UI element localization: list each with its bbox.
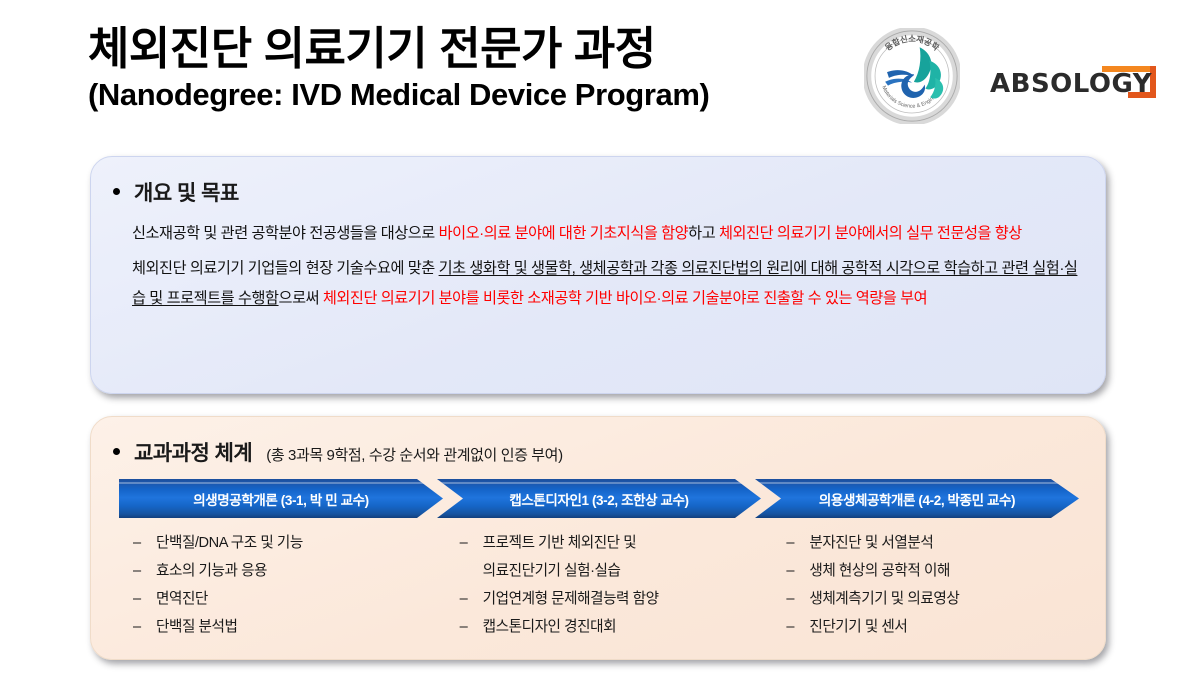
course-chevron-3-label: 의용생체공학개론 (4-2, 박종민 교수) [809, 489, 1025, 509]
page-title-korean: 체외진단 의료기기 전문가 과정 [88, 24, 848, 74]
topic-dash-icon: – [460, 613, 470, 641]
topic-label: 기업연계형 문제해결능력 함양 [483, 585, 659, 613]
course-topics-column-3: –분자진단 및 서열분석–생체 현상의 공학적 이해–생체계측기기 및 의료영상… [772, 529, 1099, 641]
topic-dash-icon: – [786, 613, 796, 641]
topic-label: 프로젝트 기반 체외진단 및 [483, 529, 637, 557]
svg-text:ABSOLOGY: ABSOLOGY [990, 69, 1153, 99]
topic-item-continuation: 의료진단기기 실험·실습 [446, 557, 773, 585]
topic-item: –분자진단 및 서열분석 [772, 529, 1099, 557]
topic-dash-icon: – [786, 585, 796, 613]
overview-panel: 개요 및 목표 신소재공학 및 관련 공학분야 전공생들을 대상으로 바이오·의… [90, 156, 1106, 394]
topic-item: –기업연계형 문제해결능력 함양 [446, 585, 773, 613]
topic-item: –단백질 분석법 [119, 613, 446, 641]
overview-paragraph-2: 체외진단 의료기기 기업들의 현장 기술수요에 맞춘 기초 생화학 및 생물학,… [132, 254, 1084, 314]
overview-heading: 개요 및 목표 [113, 177, 239, 207]
text-run: 체외진단 의료기기 분야에서의 실무 전문성을 향상 [719, 225, 1022, 242]
course-name: 의용생체공학개론 [819, 493, 915, 508]
topic-label: 효소의 기능과 응용 [156, 557, 267, 585]
text-run: 하고 [688, 225, 719, 242]
topic-label: 생체 현상의 공학적 이해 [809, 557, 950, 585]
topic-item: –생체 현상의 공학적 이해 [772, 557, 1099, 585]
topic-label: 의료진단기기 실험·실습 [483, 557, 621, 585]
topic-item: –단백질/DNA 구조 및 기능 [119, 529, 446, 557]
topic-dash-icon: – [460, 529, 470, 557]
topic-dash-icon: – [133, 585, 143, 613]
topic-label: 진단기기 및 센서 [809, 613, 907, 641]
overview-paragraph-1: 신소재공학 및 관련 공학분야 전공생들을 대상으로 바이오·의료 분야에 대한… [132, 219, 1084, 249]
overview-title: 개요 및 목표 [134, 177, 239, 207]
bullet-dot-icon [113, 188, 120, 195]
topic-dash-icon: – [133, 613, 143, 641]
topic-item: –진단기기 및 센서 [772, 613, 1099, 641]
slide-root: 체외진단 의료기기 전문가 과정 (Nanodegree: IVD Medica… [0, 0, 1200, 675]
course-meta: (3-2, 조한상 교수) [589, 493, 689, 508]
course-topics-column-1: –단백질/DNA 구조 및 기능–효소의 기능과 응용–면역진단–단백질 분석법 [119, 529, 446, 641]
topic-item: –효소의 기능과 응용 [119, 557, 446, 585]
topic-label: 단백질/DNA 구조 및 기능 [156, 529, 303, 557]
curriculum-title: 교과과정 체계 [134, 437, 252, 467]
course-chevron-3[interactable]: 의용생체공학개론 (4-2, 박종민 교수) [755, 479, 1079, 518]
course-meta: (3-1, 박 민 교수) [277, 493, 368, 508]
course-chevron-1[interactable]: 의생명공학개론 (3-1, 박 민 교수) [119, 479, 443, 518]
course-flow-band: 의생명공학개론 (3-1, 박 민 교수) 캡스톤디자인1 (3-2, 조한상 … [119, 479, 1079, 518]
text-run: 체외진단 의료기기 기업들의 현장 기술수요에 맞춘 [132, 260, 439, 277]
curriculum-note: (총 3과목 9학점, 수강 순서와 관계없이 인증 부여) [266, 444, 562, 465]
topic-label: 면역진단 [156, 585, 208, 613]
topic-dash-icon: – [133, 557, 143, 585]
text-run: 신소재공학 및 관련 공학분야 전공생들을 대상으로 [132, 225, 439, 242]
overview-body: 신소재공학 및 관련 공학분야 전공생들을 대상으로 바이오·의료 분야에 대한… [132, 219, 1084, 314]
text-run: 체외진단 의료기기 분야를 비롯한 소재공학 기반 바이오·의료 기술분야로 진… [323, 290, 927, 307]
topic-item: –면역진단 [119, 585, 446, 613]
slide-header: 체외진단 의료기기 전문가 과정 (Nanodegree: IVD Medica… [0, 0, 1200, 150]
course-chevron-2[interactable]: 캡스톤디자인1 (3-2, 조한상 교수) [437, 479, 761, 518]
course-name: 의생명공학개론 [193, 493, 277, 508]
topic-dash-icon: – [133, 529, 143, 557]
topic-item: –프로젝트 기반 체외진단 및 [446, 529, 773, 557]
course-chevron-1-label: 의생명공학개론 (3-1, 박 민 교수) [183, 489, 378, 509]
topic-label: 분자진단 및 서열분석 [809, 529, 933, 557]
course-topic-columns: –단백질/DNA 구조 및 기능–효소의 기능과 응용–면역진단–단백질 분석법… [119, 529, 1099, 641]
absology-logo-icon: ABSOLOGY [988, 62, 1158, 102]
text-run: 으로써 [279, 290, 323, 307]
curriculum-heading: 교과과정 체계 (총 3과목 9학점, 수강 순서와 관계없이 인증 부여) [113, 437, 563, 467]
course-chevron-2-label: 캡스톤디자인1 (3-2, 조한상 교수) [499, 489, 698, 509]
topic-item: –캡스톤디자인 경진대회 [446, 613, 773, 641]
curriculum-panel: 교과과정 체계 (총 3과목 9학점, 수강 순서와 관계없이 인증 부여) 의… [90, 416, 1106, 660]
course-meta: (4-2, 박종민 교수) [915, 493, 1015, 508]
course-name: 캡스톤디자인1 [509, 493, 588, 508]
topic-label: 생체계측기기 및 의료영상 [809, 585, 959, 613]
text-run: 바이오·의료 분야에 대한 기초지식을 함양 [439, 225, 689, 242]
topic-label: 캡스톤디자인 경진대회 [483, 613, 616, 641]
topic-label: 단백질 분석법 [156, 613, 237, 641]
topic-dash-icon: – [786, 557, 796, 585]
page-title-english: (Nanodegree: IVD Medical Device Program) [88, 76, 848, 113]
materials-science-emblem-icon: 융합신소재공학 Materials Science & Engineering [864, 28, 960, 124]
topic-item: –생체계측기기 및 의료영상 [772, 585, 1099, 613]
topic-dash-icon: – [460, 585, 470, 613]
course-topics-column-2: –프로젝트 기반 체외진단 및의료진단기기 실험·실습–기업연계형 문제해결능력… [446, 529, 773, 641]
bullet-dot-icon [113, 448, 120, 455]
topic-dash-icon: – [786, 529, 796, 557]
title-block: 체외진단 의료기기 전문가 과정 (Nanodegree: IVD Medica… [88, 24, 848, 114]
